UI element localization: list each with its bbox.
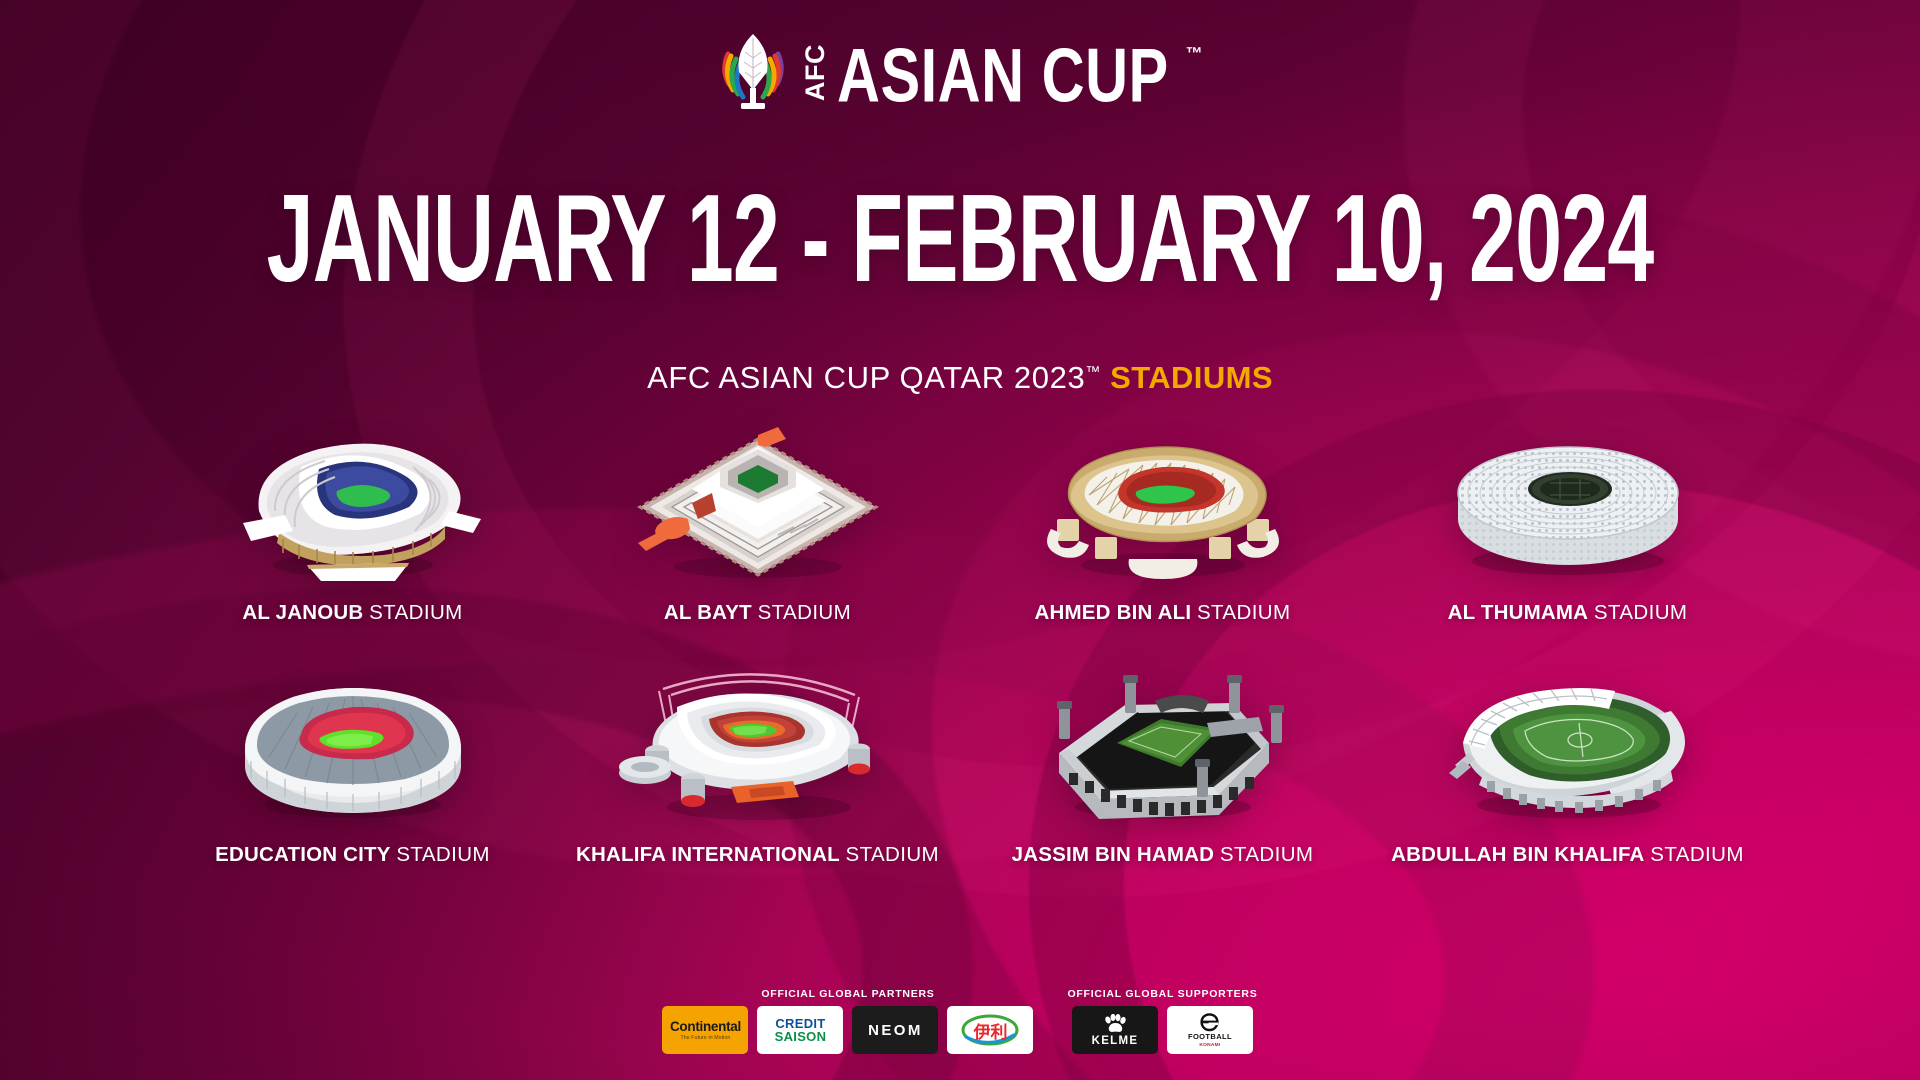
- stadium-card-khalifa-international[interactable]: KHALIFA INTERNATIONAL STADIUM: [555, 647, 960, 867]
- al-thumama-stadium-art: [1365, 405, 1770, 595]
- konami-name: KONAMI: [1199, 1043, 1220, 1048]
- subtitle-event-name: AFC ASIAN CUP QATAR 2023: [647, 360, 1085, 395]
- stadium-label: EDUCATION CITY STADIUM: [215, 843, 490, 867]
- ahmed-bin-ali-stadium-art: [960, 405, 1365, 595]
- sponsor-logo-kelme[interactable]: KELME: [1072, 1006, 1158, 1054]
- stadium-label: AHMED BIN ALI STADIUM: [1035, 601, 1291, 625]
- stadium-card-jassim-bin-hamad[interactable]: JASSIM BIN HAMAD STADIUM: [960, 647, 1365, 867]
- partners-title: OFFICIAL GLOBAL PARTNERS: [761, 988, 934, 1000]
- stadium-name-light: STADIUM: [396, 843, 490, 866]
- yili-name: 伊利: [973, 1018, 1007, 1043]
- credit-saison-line1: CREDIT: [775, 1017, 825, 1030]
- stadium-name-light: STADIUM: [758, 601, 852, 624]
- stadium-name-bold: ABDULLAH BIN KHALIFA: [1391, 843, 1644, 866]
- stadium-name-bold: AHMED BIN ALI: [1035, 601, 1192, 624]
- stadium-name-bold: AL JANOUB: [242, 601, 363, 624]
- sponsors-bar: OFFICIAL GLOBAL PARTNERS Continental The…: [0, 988, 1920, 1054]
- stadium-name-bold: KHALIFA INTERNATIONAL: [576, 843, 840, 866]
- education-city-stadium-art: [150, 647, 555, 837]
- official-global-partners-group: OFFICIAL GLOBAL PARTNERS Continental The…: [662, 988, 1033, 1054]
- stadium-name-light: STADIUM: [1197, 601, 1291, 624]
- stadium-label: AL JANOUB STADIUM: [242, 601, 462, 625]
- stadium-name-bold: JASSIM BIN HAMAD: [1012, 843, 1215, 866]
- credit-saison-line2: SAISON: [775, 1030, 827, 1043]
- logo-afc-text: AFC: [803, 44, 828, 101]
- event-dates-headline: JANUARY 12 - FEBRUARY 10, 2024: [115, 168, 1805, 311]
- sponsor-logo-neom[interactable]: NEOM: [852, 1006, 938, 1054]
- afc-asian-cup-logo: AFC ASIAN CUP ™: [0, 30, 1920, 116]
- logo-trademark: ™: [1186, 44, 1203, 64]
- abdullah-bin-khalifa-stadium-art: [1365, 647, 1770, 837]
- stadium-label: AL THUMAMA STADIUM: [1448, 601, 1688, 625]
- continental-name: Continental: [670, 1019, 741, 1034]
- stadium-card-education-city[interactable]: EDUCATION CITY STADIUM: [150, 647, 555, 867]
- partners-logos: Continental The Future in Motion CREDIT …: [662, 1006, 1033, 1054]
- subtitle-stadiums-word: STADIUMS: [1110, 360, 1273, 395]
- stadium-label: JASSIM BIN HAMAD STADIUM: [1012, 843, 1314, 867]
- stadium-card-al-thumama[interactable]: AL THUMAMA STADIUM: [1365, 405, 1770, 625]
- al-bayt-stadium-art: [555, 405, 960, 595]
- stadium-label: AL BAYT STADIUM: [664, 601, 851, 625]
- efootball-e-icon: [1200, 1013, 1219, 1032]
- stadium-name-light: STADIUM: [369, 601, 463, 624]
- al-janoub-stadium-art: [150, 405, 555, 595]
- neom-name: NEOM: [868, 1022, 923, 1039]
- supporters-title: OFFICIAL GLOBAL SUPPORTERS: [1067, 988, 1257, 1000]
- stadium-card-al-bayt[interactable]: AL BAYT STADIUM: [555, 405, 960, 625]
- sponsor-logo-yili[interactable]: 伊利: [947, 1006, 1033, 1054]
- sponsor-logo-continental[interactable]: Continental The Future in Motion: [662, 1006, 748, 1054]
- official-global-supporters-group: OFFICIAL GLOBAL SUPPORTERS KELME: [1067, 988, 1257, 1054]
- continental-tagline: The Future in Motion: [681, 1035, 731, 1041]
- stadium-name-light: STADIUM: [1650, 843, 1744, 866]
- stadium-name-light: STADIUM: [1220, 843, 1314, 866]
- subtitle-trademark: ™: [1085, 364, 1101, 381]
- stadium-name-bold: EDUCATION CITY: [215, 843, 391, 866]
- stadium-name-bold: AL BAYT: [664, 601, 752, 624]
- kelme-name: KELME: [1092, 1035, 1139, 1047]
- paw-print-icon: [1102, 1014, 1128, 1034]
- stadiums-grid: AL JANOUB STADIUM: [150, 405, 1770, 867]
- stadium-label: ABDULLAH BIN KHALIFA STADIUM: [1391, 843, 1744, 867]
- stadium-card-al-janoub[interactable]: AL JANOUB STADIUM: [150, 405, 555, 625]
- poster-content: AFC ASIAN CUP ™ JANUARY 12 - FEBRUARY 10…: [0, 0, 1920, 1080]
- stadium-card-ahmed-bin-ali[interactable]: AHMED BIN ALI STADIUM: [960, 405, 1365, 625]
- sponsor-logo-credit-saison[interactable]: CREDIT SAISON: [757, 1006, 843, 1054]
- khalifa-international-stadium-art: [555, 647, 960, 837]
- stadium-name-light: STADIUM: [846, 843, 940, 866]
- sponsor-logo-efootball[interactable]: FOOTBALL KONAMI: [1167, 1006, 1253, 1054]
- afc-trophy-icon: [717, 30, 789, 116]
- supporters-logos: KELME FOOTBALL KONAMI: [1072, 1006, 1253, 1054]
- stadiums-subtitle: AFC ASIAN CUP QATAR 2023™ STADIUMS: [0, 360, 1920, 396]
- stadium-name-light: STADIUM: [1594, 601, 1688, 624]
- logo-asian-cup-text: ASIAN CUP: [837, 39, 1169, 115]
- stadium-label: KHALIFA INTERNATIONAL STADIUM: [576, 843, 939, 867]
- stadium-name-bold: AL THUMAMA: [1448, 601, 1589, 624]
- stadium-card-abdullah-bin-khalifa[interactable]: ABDULLAH BIN KHALIFA STADIUM: [1365, 647, 1770, 867]
- efootball-name: FOOTBALL: [1188, 1032, 1232, 1041]
- jassim-bin-hamad-stadium-art: [960, 647, 1365, 837]
